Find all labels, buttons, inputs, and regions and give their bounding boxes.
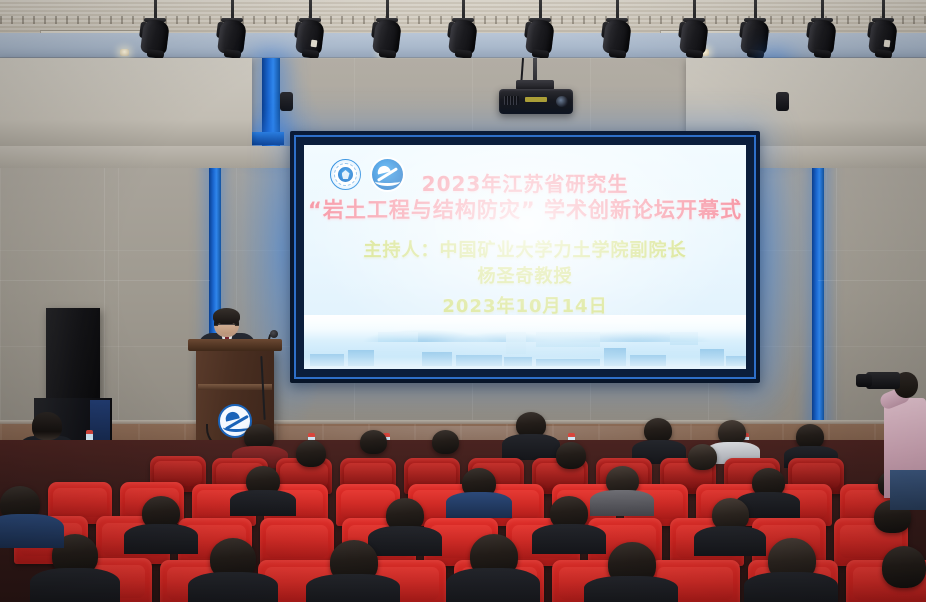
- projection-screen: 2023年江苏省研究生 “岩土工程与结构防灾” 学术创新论坛开幕式 主持人：中国…: [304, 145, 746, 369]
- slide-host-line-1: 主持人：中国矿业大学力土学院副院长: [304, 238, 746, 264]
- audience-shoulders: [306, 574, 400, 602]
- pa-subwoofer-side-panel: [90, 400, 110, 442]
- audience-shoulders: [532, 524, 606, 554]
- audience-head: [882, 546, 926, 588]
- photographer-camera-lens: [856, 374, 872, 387]
- audience-head: [688, 444, 717, 470]
- audience-shoulders: [694, 526, 766, 556]
- audience-shoulders: [744, 572, 838, 602]
- audience-shoulders: [188, 572, 278, 602]
- wall-seam: [818, 280, 926, 281]
- ceiling-downlight: [120, 49, 129, 56]
- photographer-trousers: [890, 470, 926, 510]
- wall-seam: [836, 168, 837, 423]
- wall-seam: [0, 280, 210, 281]
- audience-head: [432, 430, 459, 454]
- audience-shoulders: [502, 434, 560, 460]
- slide-host-line-2: 杨圣奇教授: [304, 264, 746, 290]
- presidium-official-head: [32, 412, 62, 440]
- pa-speaker-stack: [46, 308, 100, 400]
- slide-campus-panorama: [304, 315, 746, 369]
- projector-label: [525, 97, 547, 102]
- wall-speaker-left: [280, 92, 293, 111]
- slide-text-block: 2023年江苏省研究生 “岩土工程与结构防灾” 学术创新论坛开幕式 主持人：中国…: [304, 171, 746, 320]
- projector-lens: [556, 96, 568, 107]
- presenter-hair: [213, 308, 240, 324]
- audience-shoulders: [590, 490, 654, 516]
- presenter-glasses: [217, 324, 236, 328]
- audience-head: [556, 442, 586, 469]
- auditorium-seat: [260, 518, 334, 566]
- audience-shoulders: [368, 526, 442, 556]
- wall-overhang-left: [0, 58, 252, 146]
- audience-head: [360, 430, 387, 454]
- audience-shoulders: [446, 492, 512, 518]
- wall-speaker-right: [776, 92, 789, 111]
- auditorium-scene: 2023年江苏省研究生 “岩土工程与结构防灾” 学术创新论坛开幕式 主持人：中国…: [0, 0, 926, 602]
- audience-shoulders: [230, 490, 296, 516]
- projector-vent: [504, 96, 519, 105]
- slide-title-line-2: “岩土工程与结构防灾” 学术创新论坛开幕式: [304, 197, 746, 225]
- audience-shoulders: [30, 568, 120, 602]
- podium-microphone: [270, 330, 278, 338]
- audience-shoulders: [446, 568, 540, 602]
- wall-seam: [104, 168, 105, 423]
- audience-shoulders: [124, 524, 198, 554]
- audience-shoulders: [584, 576, 678, 602]
- projection-screen-frame: 2023年江苏省研究生 “岩土工程与结构防灾” 学术创新论坛开幕式 主持人：中国…: [294, 135, 756, 379]
- slide-title-line-1: 2023年江苏省研究生: [304, 171, 746, 197]
- lectern-top: [188, 339, 282, 351]
- audience-shoulders: [0, 514, 64, 548]
- projection-screen-bezel: 2023年江苏省研究生 “岩土工程与结构防灾” 学术创新论坛开幕式 主持人：中国…: [290, 131, 760, 383]
- audience-head: [296, 440, 326, 467]
- panorama-haze: [304, 315, 746, 369]
- led-strip-right-lower: [812, 142, 824, 432]
- ceiling-projector: [499, 89, 573, 114]
- wall-ledge-left: [0, 146, 300, 168]
